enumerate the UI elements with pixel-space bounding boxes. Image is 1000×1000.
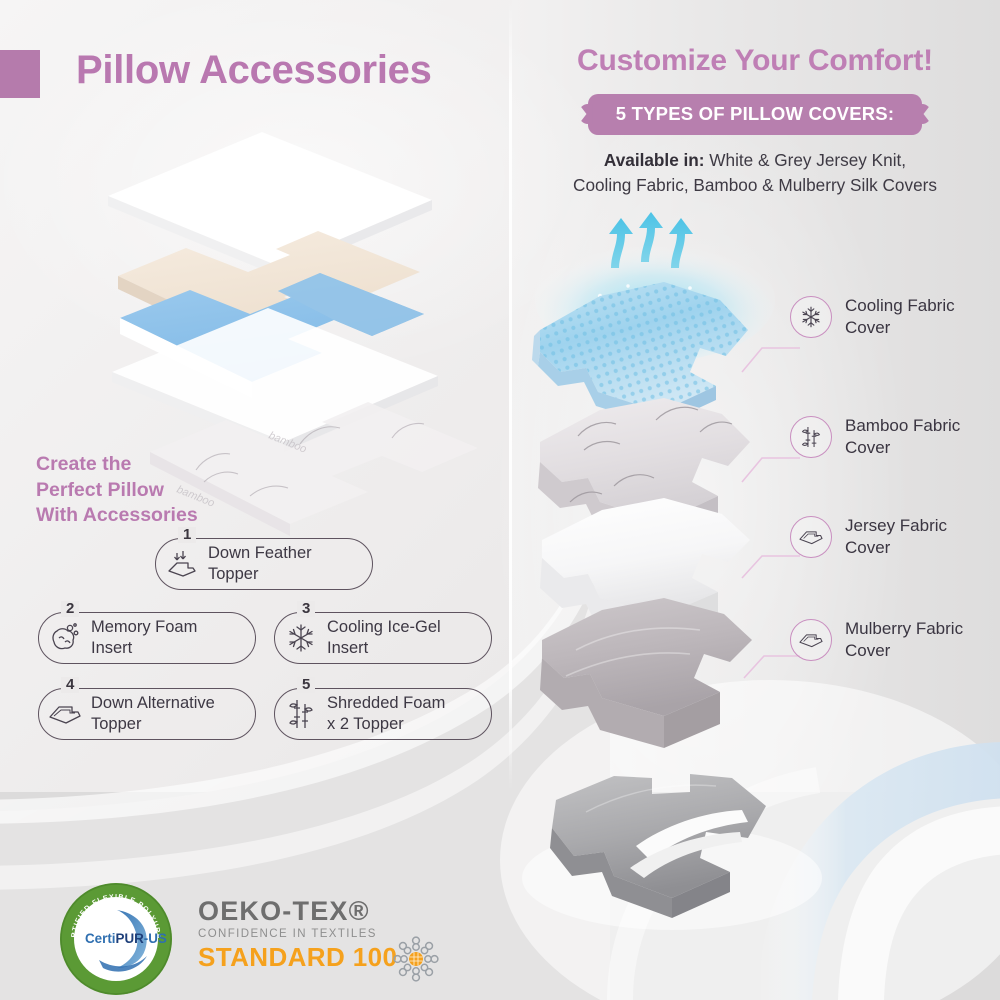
pillow-topper-icon [790, 619, 832, 661]
accessory-label: Memory Foam Insert [91, 617, 211, 659]
available-in-text: Available in: White & Grey Jersey Knit, … [520, 148, 990, 198]
page-title-left: Pillow Accessories [76, 48, 476, 93]
cover-row-bamboo-fabric[interactable]: Bamboo Fabric Cover [790, 415, 960, 459]
covers-badge-wrapper: 5 TYPES OF PILLOW COVERS: [520, 92, 990, 136]
covers-count-badge: 5 TYPES OF PILLOW COVERS: [588, 94, 922, 135]
cover-label: Jersey Fabric Cover [845, 515, 947, 559]
cover-row-jersey-fabric[interactable]: Jersey Fabric Cover [790, 515, 947, 559]
svg-text:CertiPUR-US: CertiPUR-US [85, 931, 167, 946]
page-title-right: Customize Your Comfort! [520, 44, 990, 78]
create-perfect-pillow-heading: Create the Perfect Pillow With Accessori… [36, 452, 276, 529]
accent-square [0, 50, 40, 98]
accessory-pill-down-alternative-topper[interactable]: 4 Down Alternative Topper [38, 688, 256, 740]
cover-label: Cooling Fabric Cover [845, 295, 955, 339]
memory-foam-icon [39, 622, 91, 654]
accessory-pill-down-feather-topper[interactable]: 1 Down Feather Topper [155, 538, 373, 590]
accessory-number: 2 [61, 601, 79, 617]
pillow-topper-icon [790, 516, 832, 558]
oeko-tex-standard-100-badge: OEKO-TEX® CONFIDENCE IN TEXTILES STANDAR… [198, 896, 458, 980]
cover-label: Bamboo Fabric Cover [845, 415, 960, 459]
accessory-number: 3 [297, 601, 315, 617]
accessory-label: Shredded Foam x 2 Topper [327, 693, 459, 735]
accessory-number: 1 [178, 527, 196, 543]
available-in-label: Available in: [604, 150, 705, 170]
snowflake-icon [790, 296, 832, 338]
oeko-tex-flower-icon [391, 934, 441, 984]
accessory-number: 4 [61, 677, 79, 693]
bamboo-icon [790, 416, 832, 458]
infographic-canvas: bamboo bamboo [0, 0, 1000, 1000]
available-in-line1: White & Grey Jersey Knit, [705, 150, 907, 170]
cover-row-mulberry-fabric[interactable]: Mulberry Fabric Cover [790, 618, 963, 662]
accessory-label: Down Feather Topper [208, 543, 326, 585]
bamboo-icon [275, 697, 327, 731]
panel-divider [509, 0, 512, 790]
cover-label: Mulberry Fabric Cover [845, 618, 963, 662]
cover-row-cooling-fabric[interactable]: Cooling Fabric Cover [790, 295, 955, 339]
down-feather-topper-icon [156, 549, 208, 579]
snowflake-icon [275, 622, 327, 654]
accessory-label: Cooling Ice-Gel Insert [327, 617, 455, 659]
accessory-label: Down Alternative Topper [91, 693, 229, 735]
down-alternative-topper-icon [39, 701, 91, 727]
oeko-tex-title: OEKO-TEX® [198, 896, 458, 926]
accessory-pill-cooling-ice-gel-insert[interactable]: 3 Cooling Ice-Gel Insert [274, 612, 492, 664]
accessory-number: 5 [297, 677, 315, 693]
accessory-pill-shredded-foam-topper[interactable]: 5 Shredded Foam x 2 Topper [274, 688, 492, 740]
available-in-line2: Cooling Fabric, Bamboo & Mulberry Silk C… [573, 175, 937, 195]
accessory-pill-memory-foam-insert[interactable]: 2 Memory Foam Insert [38, 612, 256, 664]
certipur-us-badge: CONTAINS CERTIFIED FLEXIBLE POLYURETHANE… [57, 880, 175, 998]
